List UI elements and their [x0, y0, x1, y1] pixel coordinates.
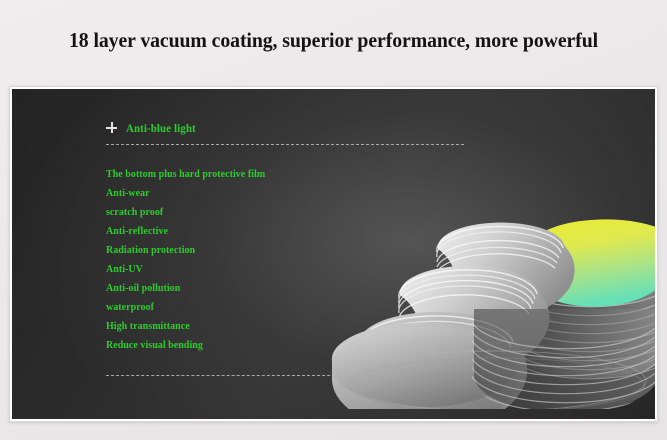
- divider-bottom: [106, 375, 506, 376]
- title-bar: 18 layer vacuum coating, superior perfor…: [0, 0, 667, 80]
- page-title: 18 layer vacuum coating, superior perfor…: [69, 28, 598, 53]
- anti-blue-light-label: Anti-blue light: [126, 123, 196, 135]
- anti-blue-light-header: Anti-blue light: [106, 121, 199, 135]
- illustration-panel: Anti-blue light The bottom plus hard pro…: [12, 89, 655, 419]
- list-item: Anti-UV: [106, 260, 334, 279]
- divider-top: [106, 144, 464, 145]
- illustration-panel-frame: Anti-blue light The bottom plus hard pro…: [9, 86, 658, 422]
- list-item: The bottom plus hard protective film: [106, 165, 334, 184]
- plus-icon: [106, 122, 117, 133]
- list-item: Radiation protection: [106, 241, 334, 260]
- list-item: Reduce visual bending: [106, 336, 334, 355]
- product-feature-graphic: 18 layer vacuum coating, superior perfor…: [0, 0, 667, 440]
- list-item: Anti-wear: [106, 184, 334, 203]
- list-item: Anti-oil pollution: [106, 279, 334, 298]
- list-item: scratch proof: [106, 203, 334, 222]
- feature-list: The bottom plus hard protective film Ant…: [106, 165, 346, 355]
- lens-stack-illustration: [324, 109, 655, 409]
- list-item: waterproof: [106, 298, 334, 317]
- list-item: Anti-reflective: [106, 222, 334, 241]
- list-item: High transmittance: [106, 317, 334, 336]
